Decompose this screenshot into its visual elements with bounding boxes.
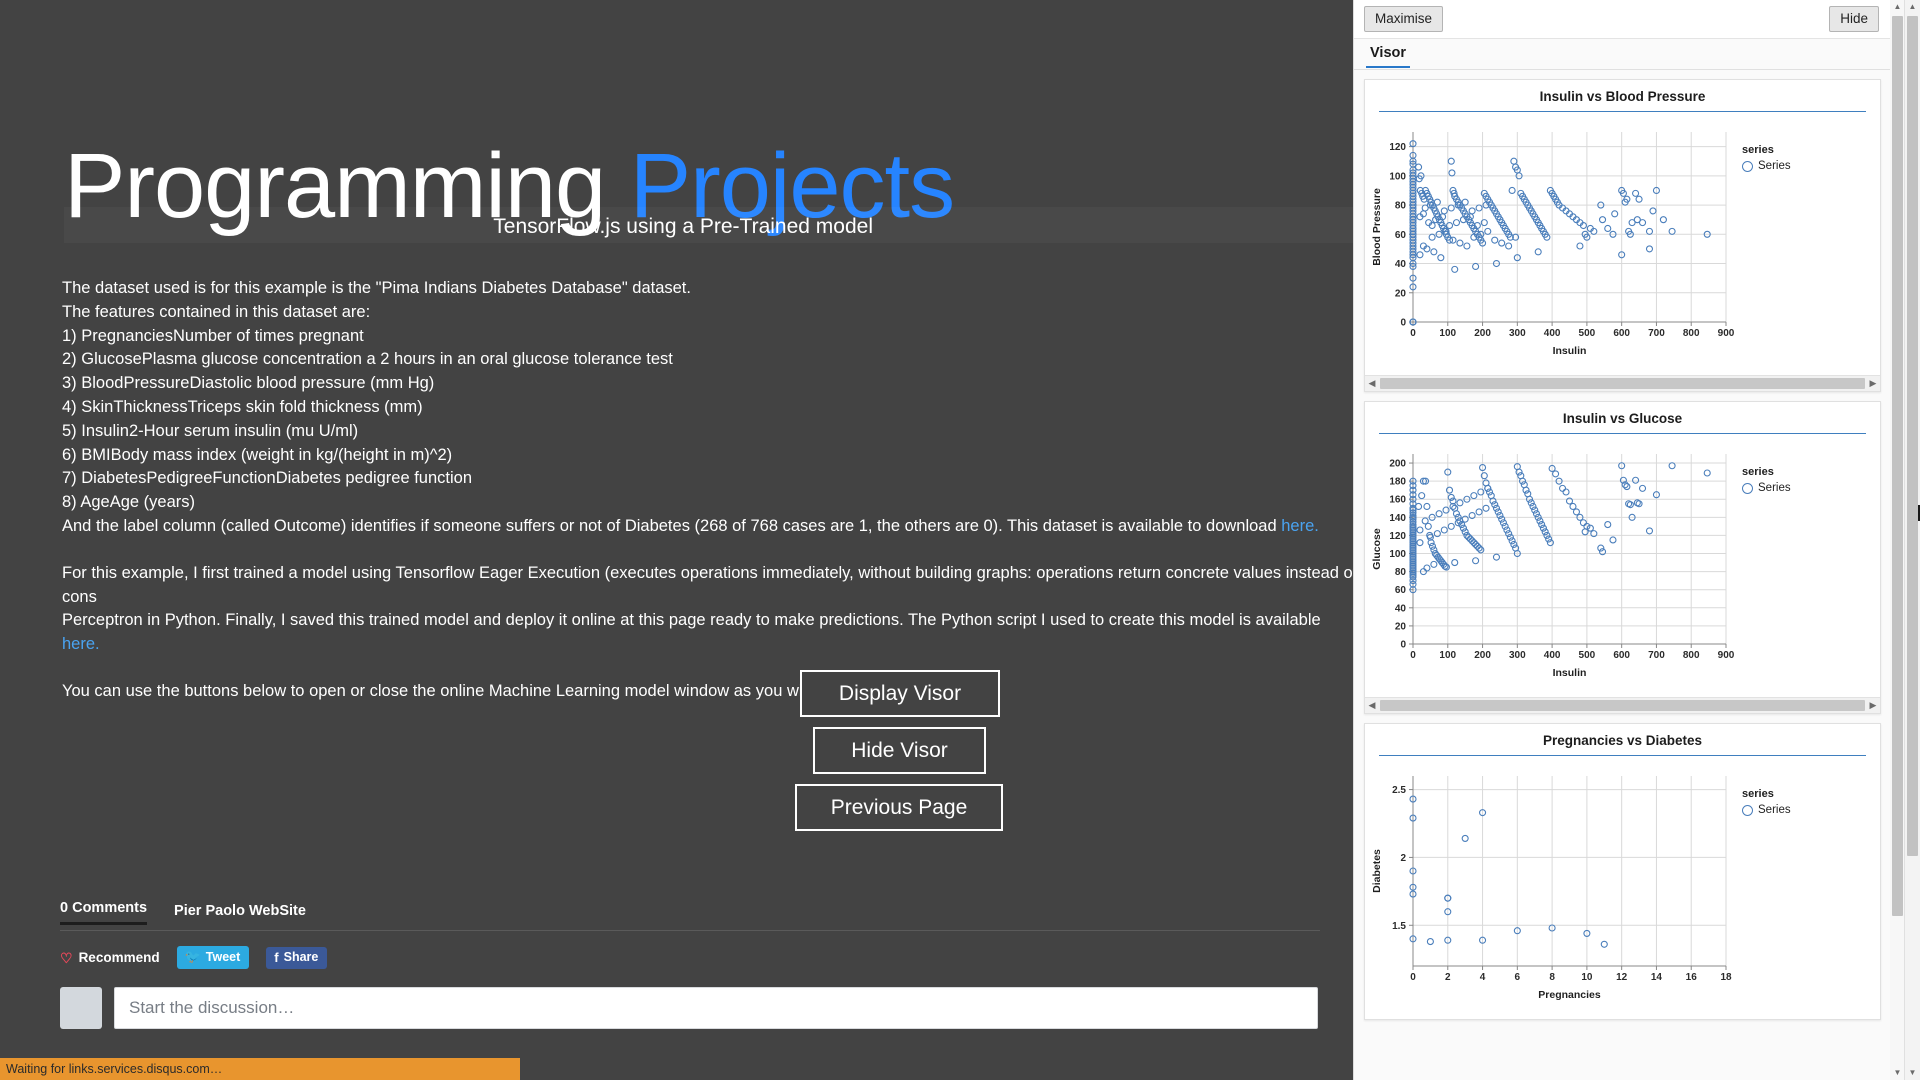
- svg-text:0: 0: [1400, 318, 1406, 329]
- svg-text:20: 20: [1395, 621, 1407, 632]
- dataset-line-0: The dataset used is for this example is …: [62, 277, 1353, 301]
- left-arrow-icon[interactable]: ◀: [1365, 700, 1379, 711]
- recommend-button[interactable]: ♡ Recommend: [60, 950, 160, 965]
- svg-text:Pregnancies: Pregnancies: [1538, 989, 1601, 1001]
- page-scrollbar[interactable]: ▲ ▼: [1904, 0, 1920, 1080]
- chart-body: 0100200300400500600700800900020406080100…: [1365, 434, 1880, 697]
- dataset-download-link[interactable]: here.: [1281, 517, 1319, 535]
- disqus-tab-comments[interactable]: 0 Comments: [60, 900, 147, 925]
- dataset-line-3: 2) GlucosePlasma glucose concentration a…: [62, 348, 1353, 372]
- chart-title: Pregnancies vs Diabetes: [1379, 724, 1866, 756]
- training-text: Perceptron in Python. Finally, I saved t…: [62, 611, 1321, 629]
- svg-text:80: 80: [1395, 567, 1407, 578]
- left-arrow-icon[interactable]: ◀: [1365, 378, 1379, 389]
- svg-text:180: 180: [1389, 477, 1406, 488]
- dataset-line-8: 7) DiabetesPedigreeFunctionDiabetes pedi…: [62, 467, 1353, 491]
- chart-body: 0246810121416181.522.5PregnanciesDiabete…: [1365, 756, 1880, 1019]
- visor-controls: Display Visor Hide Visor Previous Page: [0, 670, 1353, 841]
- dataset-line-6: 5) Insulin2-Hour serum insulin (mu U/ml): [62, 420, 1353, 444]
- svg-text:14: 14: [1651, 972, 1663, 983]
- svg-text:200: 200: [1474, 328, 1491, 339]
- visor-toolbar: Maximise Hide: [1354, 0, 1891, 39]
- chart-body: 0100200300400500600700800900020406080100…: [1365, 112, 1880, 375]
- plot-area[interactable]: 0246810121416181.522.5PregnanciesDiabete…: [1369, 762, 1734, 1017]
- svg-text:Blood Pressure: Blood Pressure: [1371, 188, 1383, 266]
- tweet-label: Tweet: [206, 950, 241, 964]
- tweet-button[interactable]: 🐦 Tweet: [177, 946, 250, 969]
- svg-text:160: 160: [1389, 495, 1406, 506]
- twitter-bird-icon: 🐦: [185, 949, 201, 965]
- svg-text:18: 18: [1720, 972, 1732, 983]
- share-button[interactable]: f Share: [266, 947, 327, 969]
- dataset-line-4: 3) BloodPressureDiastolic blood pressure…: [62, 372, 1353, 396]
- tfjs-visor-panel: Maximise Hide Visor Insulin vs Blood Pre…: [1353, 0, 1891, 1080]
- svg-text:900: 900: [1718, 328, 1734, 339]
- svg-text:100: 100: [1439, 328, 1456, 339]
- svg-text:0: 0: [1410, 650, 1416, 661]
- visor-hide-button[interactable]: Hide: [1829, 6, 1879, 32]
- svg-text:4: 4: [1480, 972, 1486, 983]
- svg-text:Insulin: Insulin: [1553, 667, 1587, 679]
- outcome-line: And the label column (called Outcome) id…: [62, 515, 1353, 539]
- maximise-button[interactable]: Maximise: [1364, 6, 1443, 32]
- facebook-f-icon: f: [274, 950, 278, 965]
- plot-area[interactable]: 0100200300400500600700800900020406080100…: [1369, 440, 1734, 695]
- comment-input[interactable]: Start the discussion…: [114, 987, 1318, 1029]
- page-subtitle: TensorFlow.js using a Pre-Trained model: [493, 215, 873, 239]
- dataset-line-1: The features contained in this dataset a…: [62, 301, 1353, 325]
- svg-text:0: 0: [1400, 640, 1406, 651]
- svg-text:100: 100: [1389, 171, 1406, 182]
- scroll-up-icon[interactable]: ▲: [1890, 0, 1905, 14]
- recommend-label: Recommend: [79, 950, 160, 965]
- scroll-thumb[interactable]: [1380, 378, 1865, 389]
- chart-card-insulin-blood-pressure: Insulin vs Blood Pressure 01002003004005…: [1364, 79, 1881, 392]
- svg-text:300: 300: [1509, 650, 1526, 661]
- display-visor-button[interactable]: Display Visor: [800, 670, 1000, 717]
- scroll-down-icon[interactable]: ▼: [1890, 1066, 1905, 1080]
- chart-horizontal-scrollbar[interactable]: ◀ ▶: [1365, 375, 1880, 391]
- training-line-1: For this example, I first trained a mode…: [62, 562, 1353, 610]
- svg-text:8: 8: [1549, 972, 1555, 983]
- website-page: Programming Projects TensorFlow.js using…: [0, 0, 1353, 1080]
- svg-text:12: 12: [1616, 972, 1628, 983]
- svg-text:140: 140: [1389, 513, 1406, 524]
- chart-legend: series Series: [1734, 118, 1791, 373]
- svg-text:60: 60: [1395, 230, 1407, 241]
- legend-entry-label: Series: [1758, 804, 1791, 816]
- legend-marker-icon: [1742, 483, 1753, 494]
- svg-text:500: 500: [1579, 328, 1596, 339]
- hide-visor-button[interactable]: Hide Visor: [813, 727, 986, 774]
- scroll-down-icon[interactable]: ▼: [1905, 1066, 1920, 1080]
- chart-card-pregnancies-diabetes: Pregnancies vs Diabetes 0246810121416181…: [1364, 723, 1881, 1020]
- svg-text:1.5: 1.5: [1392, 921, 1406, 932]
- svg-text:120: 120: [1389, 531, 1406, 542]
- disqus-comments-section: 0 Comments Pier Paolo WebSite ♡ Recommen…: [0, 880, 1353, 1080]
- legend-title: series: [1742, 466, 1791, 478]
- svg-text:80: 80: [1395, 201, 1407, 212]
- dataset-line-7: 6) BMIBody mass index (weight in kg/(hei…: [62, 444, 1353, 468]
- svg-text:300: 300: [1509, 328, 1526, 339]
- dataset-line-5: 4) SkinThicknessTriceps skin fold thickn…: [62, 396, 1353, 420]
- dataset-line-9: 8) AgeAge (years): [62, 491, 1353, 515]
- python-script-link[interactable]: here.: [62, 635, 100, 653]
- svg-text:60: 60: [1395, 585, 1407, 596]
- disqus-tabs: 0 Comments Pier Paolo WebSite: [60, 900, 306, 925]
- avatar: [60, 987, 102, 1029]
- chart-title: Insulin vs Blood Pressure: [1379, 80, 1866, 112]
- disqus-compose: Start the discussion…: [60, 987, 1318, 1029]
- svg-text:400: 400: [1544, 328, 1561, 339]
- legend-title: series: [1742, 788, 1791, 800]
- svg-text:2: 2: [1400, 853, 1406, 864]
- svg-text:40: 40: [1395, 603, 1407, 614]
- svg-text:800: 800: [1683, 650, 1700, 661]
- chart-horizontal-scrollbar[interactable]: ◀ ▶: [1365, 697, 1880, 713]
- chart-card-insulin-glucose: Insulin vs Glucose 010020030040050060070…: [1364, 401, 1881, 714]
- visor-inner-scrollbar[interactable]: ▲ ▼: [1890, 0, 1905, 1080]
- svg-text:40: 40: [1395, 259, 1407, 270]
- disqus-divider: [60, 930, 1320, 931]
- svg-text:2: 2: [1445, 972, 1451, 983]
- dataset-line-2: 1) PregnanciesNumber of times pregnant: [62, 325, 1353, 349]
- svg-text:700: 700: [1648, 328, 1665, 339]
- svg-text:100: 100: [1389, 549, 1406, 560]
- article-body: The dataset used is for this example is …: [62, 277, 1353, 704]
- chart-legend: series Series: [1734, 762, 1791, 1017]
- svg-text:200: 200: [1389, 459, 1406, 470]
- scroll-thumb[interactable]: [1380, 700, 1865, 711]
- legend-entry[interactable]: Series: [1742, 804, 1791, 816]
- svg-text:20: 20: [1395, 288, 1407, 299]
- svg-text:Insulin: Insulin: [1553, 345, 1587, 357]
- svg-text:200: 200: [1474, 650, 1491, 661]
- share-label: Share: [284, 950, 319, 964]
- svg-text:600: 600: [1613, 650, 1630, 661]
- svg-text:600: 600: [1613, 328, 1630, 339]
- legend-title: series: [1742, 144, 1791, 156]
- previous-page-button[interactable]: Previous Page: [795, 784, 1003, 831]
- scroll-thumb[interactable]: [1892, 16, 1903, 916]
- right-arrow-icon[interactable]: ▶: [1866, 700, 1880, 711]
- svg-text:10: 10: [1581, 972, 1593, 983]
- legend-entry[interactable]: Series: [1742, 482, 1791, 494]
- svg-text:900: 900: [1718, 650, 1734, 661]
- svg-text:16: 16: [1686, 972, 1698, 983]
- svg-text:500: 500: [1579, 650, 1596, 661]
- svg-text:800: 800: [1683, 328, 1700, 339]
- svg-text:Diabetes: Diabetes: [1371, 849, 1383, 893]
- training-line-2: Perceptron in Python. Finally, I saved t…: [62, 609, 1353, 657]
- svg-text:0: 0: [1410, 328, 1416, 339]
- browser-status-bar: Waiting for links.services.disqus.com…: [0, 1058, 520, 1080]
- disqus-actions: ♡ Recommend 🐦 Tweet f Share: [60, 946, 327, 969]
- plot-area[interactable]: 0100200300400500600700800900020406080100…: [1369, 118, 1734, 373]
- chart-legend: series Series: [1734, 440, 1791, 695]
- legend-marker-icon: [1742, 805, 1753, 816]
- legend-entry-label: Series: [1758, 160, 1791, 172]
- legend-marker-icon: [1742, 161, 1753, 172]
- svg-text:0: 0: [1410, 972, 1416, 983]
- scroll-up-icon[interactable]: ▲: [1905, 0, 1920, 14]
- svg-text:Glucose: Glucose: [1371, 528, 1383, 570]
- outcome-text: And the label column (called Outcome) id…: [62, 517, 1281, 535]
- svg-text:700: 700: [1648, 650, 1665, 661]
- svg-text:2.5: 2.5: [1392, 785, 1406, 796]
- disqus-tab-website[interactable]: Pier Paolo WebSite: [174, 903, 306, 925]
- chart-title: Insulin vs Glucose: [1379, 402, 1866, 434]
- right-arrow-icon[interactable]: ▶: [1866, 378, 1880, 389]
- legend-entry-label: Series: [1758, 482, 1791, 494]
- svg-text:400: 400: [1544, 650, 1561, 661]
- heart-icon: ♡: [60, 951, 73, 965]
- tab-visor[interactable]: Visor: [1366, 39, 1410, 68]
- scroll-thumb[interactable]: [1907, 16, 1918, 856]
- svg-text:100: 100: [1439, 650, 1456, 661]
- legend-entry[interactable]: Series: [1742, 160, 1791, 172]
- visor-tab-bar: Visor: [1354, 39, 1891, 70]
- svg-text:120: 120: [1389, 142, 1406, 153]
- svg-text:6: 6: [1515, 972, 1521, 983]
